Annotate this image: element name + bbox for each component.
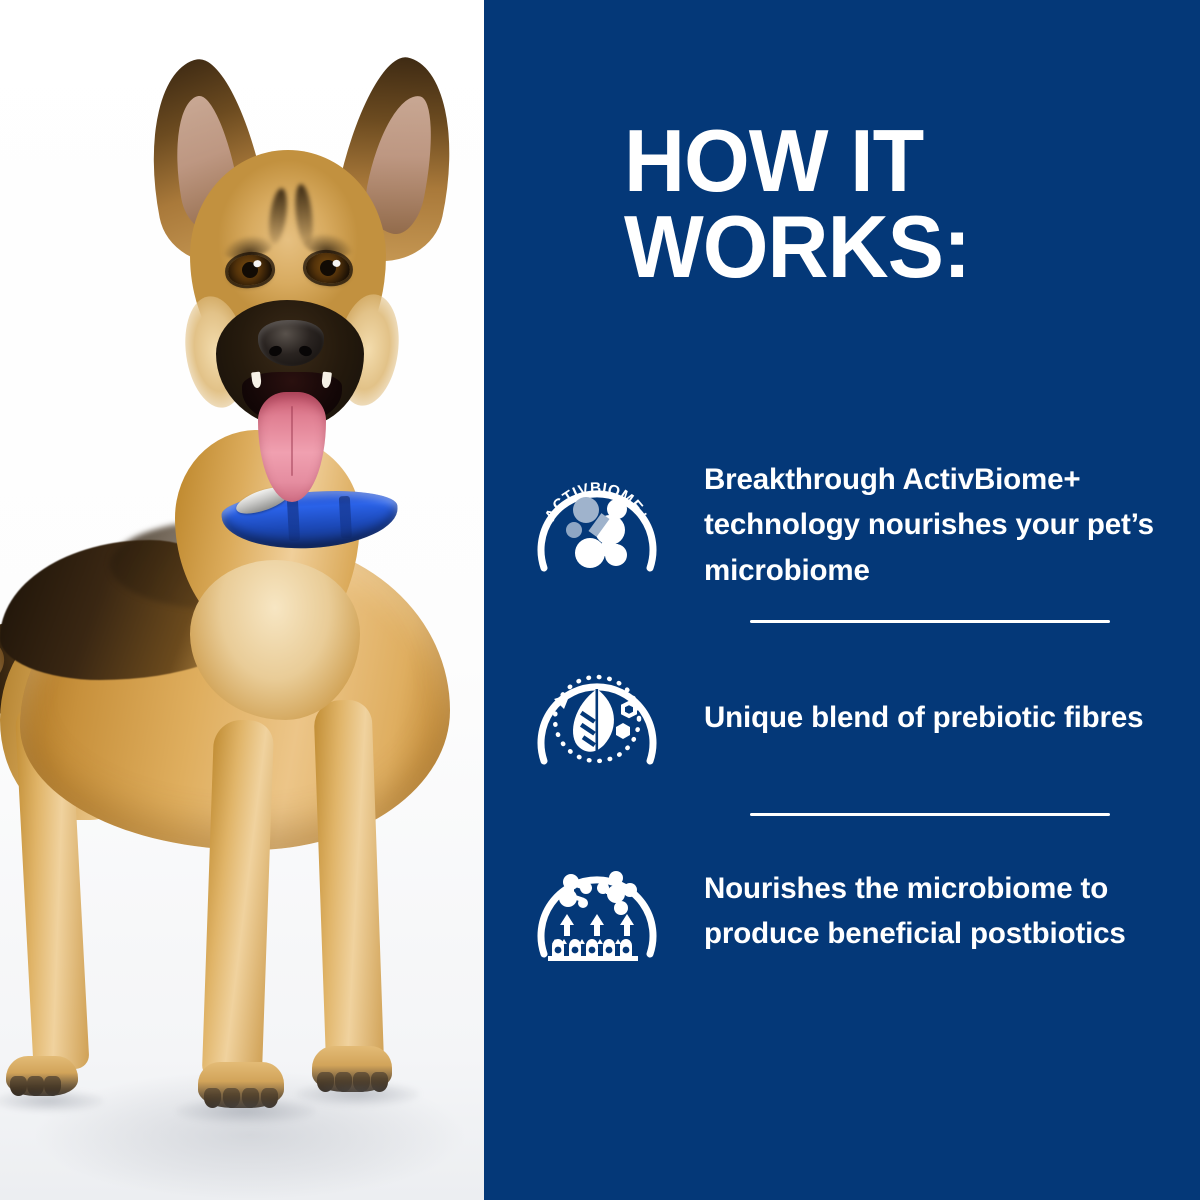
dog-photo-panel <box>0 0 484 1200</box>
activbiome-plus-logo-icon: ACTIVBIOME+ <box>524 452 670 598</box>
feature-item-postbiotics: Nourishes the microbiome to produce bene… <box>524 826 1184 996</box>
dog-tooth <box>321 372 332 389</box>
paw-shadow <box>296 1082 420 1106</box>
dog-nostril <box>268 344 283 358</box>
feature-item-prebiotic-fibres: Unique blend of prebiotic fibres <box>524 633 1184 803</box>
feature-divider <box>750 813 1110 816</box>
collar-band <box>287 499 300 542</box>
dog-photo <box>0 0 484 1200</box>
feature-text: Breakthrough ActivBiome+ technology nour… <box>704 457 1184 593</box>
feature-list: ACTIVBIOME+ Breakthrough Acti <box>524 440 1184 996</box>
collar-band <box>339 496 352 539</box>
paw-shadow <box>176 1098 316 1124</box>
dog-tongue-crease <box>291 406 293 476</box>
prebiotic-fibre-leaf-icon <box>524 645 670 791</box>
feature-text: Unique blend of prebiotic fibres <box>704 695 1143 740</box>
dog-eye-glint <box>253 260 262 268</box>
svg-text:ACTIVBIOME+: ACTIVBIOME+ <box>542 480 652 524</box>
feature-divider <box>750 620 1110 623</box>
info-panel: HOW IT WORKS: ACTIVBIOME+ <box>484 0 1200 1200</box>
page-title-line-1: HOW IT <box>624 118 1123 204</box>
page-title: HOW IT WORKS: <box>624 118 1123 290</box>
microbiome-postbiotics-villi-icon <box>524 838 670 984</box>
page-title-line-2: WORKS: <box>624 204 1123 290</box>
paw-shadow <box>0 1090 104 1112</box>
dog-tooth <box>251 372 262 389</box>
feature-item-activbiome: ACTIVBIOME+ Breakthrough Acti <box>524 440 1184 610</box>
dog-front-leg-left <box>202 719 275 1081</box>
dog-nostril <box>298 344 313 358</box>
feature-text: Nourishes the microbiome to produce bene… <box>704 866 1184 957</box>
dog-eye-glint <box>332 259 341 267</box>
promo-graphic-canvas: HOW IT WORKS: ACTIVBIOME+ <box>0 0 1200 1200</box>
